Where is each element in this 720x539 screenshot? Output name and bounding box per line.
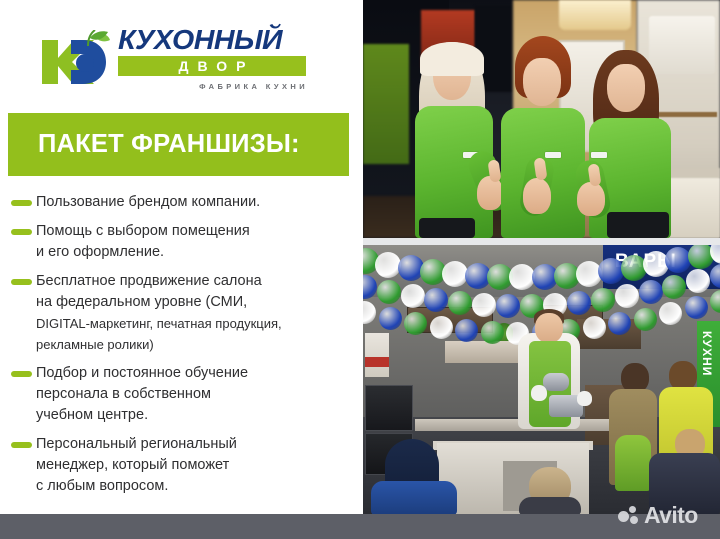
- benefit-line: рекламные ролики): [36, 334, 349, 355]
- benefit-item: Помощь с выбором помещенияи его оформлен…: [8, 221, 349, 263]
- balloon: [639, 280, 663, 304]
- balloon: [430, 316, 453, 339]
- bullet-dash-icon: [11, 200, 32, 206]
- photo-staff-thumbs-up: [363, 0, 720, 238]
- avito-watermark: Avito: [618, 504, 698, 527]
- kd-monogram-icon: [38, 30, 110, 92]
- photo-column: ВАРЫ КУХНИ: [363, 0, 720, 514]
- benefit-item: Пользование брендом компании.: [8, 192, 349, 213]
- avito-dots-icon: [618, 506, 639, 525]
- benefits-list: Пользование брендом компании.Помощь с вы…: [8, 192, 349, 505]
- brand-line1: КУХОННЫЙ: [118, 25, 314, 55]
- balloon: [685, 296, 708, 319]
- brand-logo: КУХОННЫЙ ДВОР ФАБРИКА КУХНИ: [38, 25, 310, 103]
- benefit-line: персонала в собственном: [36, 384, 349, 405]
- benefit-item: Подбор и постоянное обучениеперсонала в …: [8, 363, 349, 426]
- bottom-bar: [0, 514, 720, 539]
- bullet-dash-icon: [11, 442, 32, 448]
- poster-page: КУХОННЫЙ ДВОР ФАБРИКА КУХНИ ПАКЕТ ФРАНШИ…: [0, 0, 720, 539]
- photo-cooking-masterclass: ВАРЫ КУХНИ: [363, 245, 720, 514]
- balloon: [659, 302, 682, 325]
- brand-line2-bar: ДВОР: [118, 56, 306, 76]
- benefit-item: Персональный региональныйменеджер, котор…: [8, 434, 349, 497]
- brand-line2: ДВОР: [170, 59, 255, 73]
- balloon: [591, 288, 615, 312]
- balloon: [583, 316, 606, 339]
- balloon: [404, 312, 427, 335]
- benefit-line: на федеральном уровне (СМИ,: [36, 292, 349, 313]
- benefit-item: Бесплатное продвижение салонана федераль…: [8, 271, 349, 355]
- balloon: [615, 284, 639, 308]
- balloon: [481, 321, 504, 344]
- balloon: [455, 319, 478, 342]
- balloon: [377, 280, 401, 304]
- balloon: [567, 291, 591, 315]
- balloon: [401, 284, 425, 308]
- benefit-line: с любым вопросом.: [36, 476, 349, 497]
- balloon: [448, 291, 472, 315]
- left-content-panel: КУХОННЫЙ ДВОР ФАБРИКА КУХНИ ПАКЕТ ФРАНШИ…: [0, 0, 356, 514]
- benefit-line: Помощь с выбором помещения: [36, 221, 349, 242]
- benefit-line: Персональный региональный: [36, 434, 349, 455]
- balloon: [634, 308, 657, 331]
- balloon: [496, 294, 520, 318]
- benefit-line: учебном центре.: [36, 405, 349, 426]
- balloon: [472, 293, 496, 317]
- benefit-line: и его оформление.: [36, 242, 349, 263]
- bullet-dash-icon: [11, 279, 32, 285]
- balloon: [379, 307, 402, 330]
- photo-separator: [363, 238, 720, 245]
- franchise-package-banner: ПАКЕТ ФРАНШИЗЫ:: [8, 113, 349, 176]
- brand-wordmark: КУХОННЫЙ ДВОР ФАБРИКА КУХНИ: [118, 25, 310, 103]
- avito-wordmark: Avito: [644, 504, 698, 527]
- balloon: [662, 275, 686, 299]
- benefit-line: DIGITAL-маркетинг, печатная продукция,: [36, 313, 349, 334]
- bullet-dash-icon: [11, 371, 32, 377]
- event-banner-green-text: КУХНИ: [700, 331, 714, 376]
- brand-tagline: ФАБРИКА КУХНИ: [118, 82, 310, 91]
- bullet-dash-icon: [11, 229, 32, 235]
- benefit-line: Пользование брендом компании.: [36, 192, 349, 213]
- banner-title: ПАКЕТ ФРАНШИЗЫ:: [8, 130, 300, 159]
- benefit-line: Подбор и постоянное обучение: [36, 363, 349, 384]
- benefit-line: Бесплатное продвижение салона: [36, 271, 349, 292]
- benefit-line: менеджер, который поможет: [36, 455, 349, 476]
